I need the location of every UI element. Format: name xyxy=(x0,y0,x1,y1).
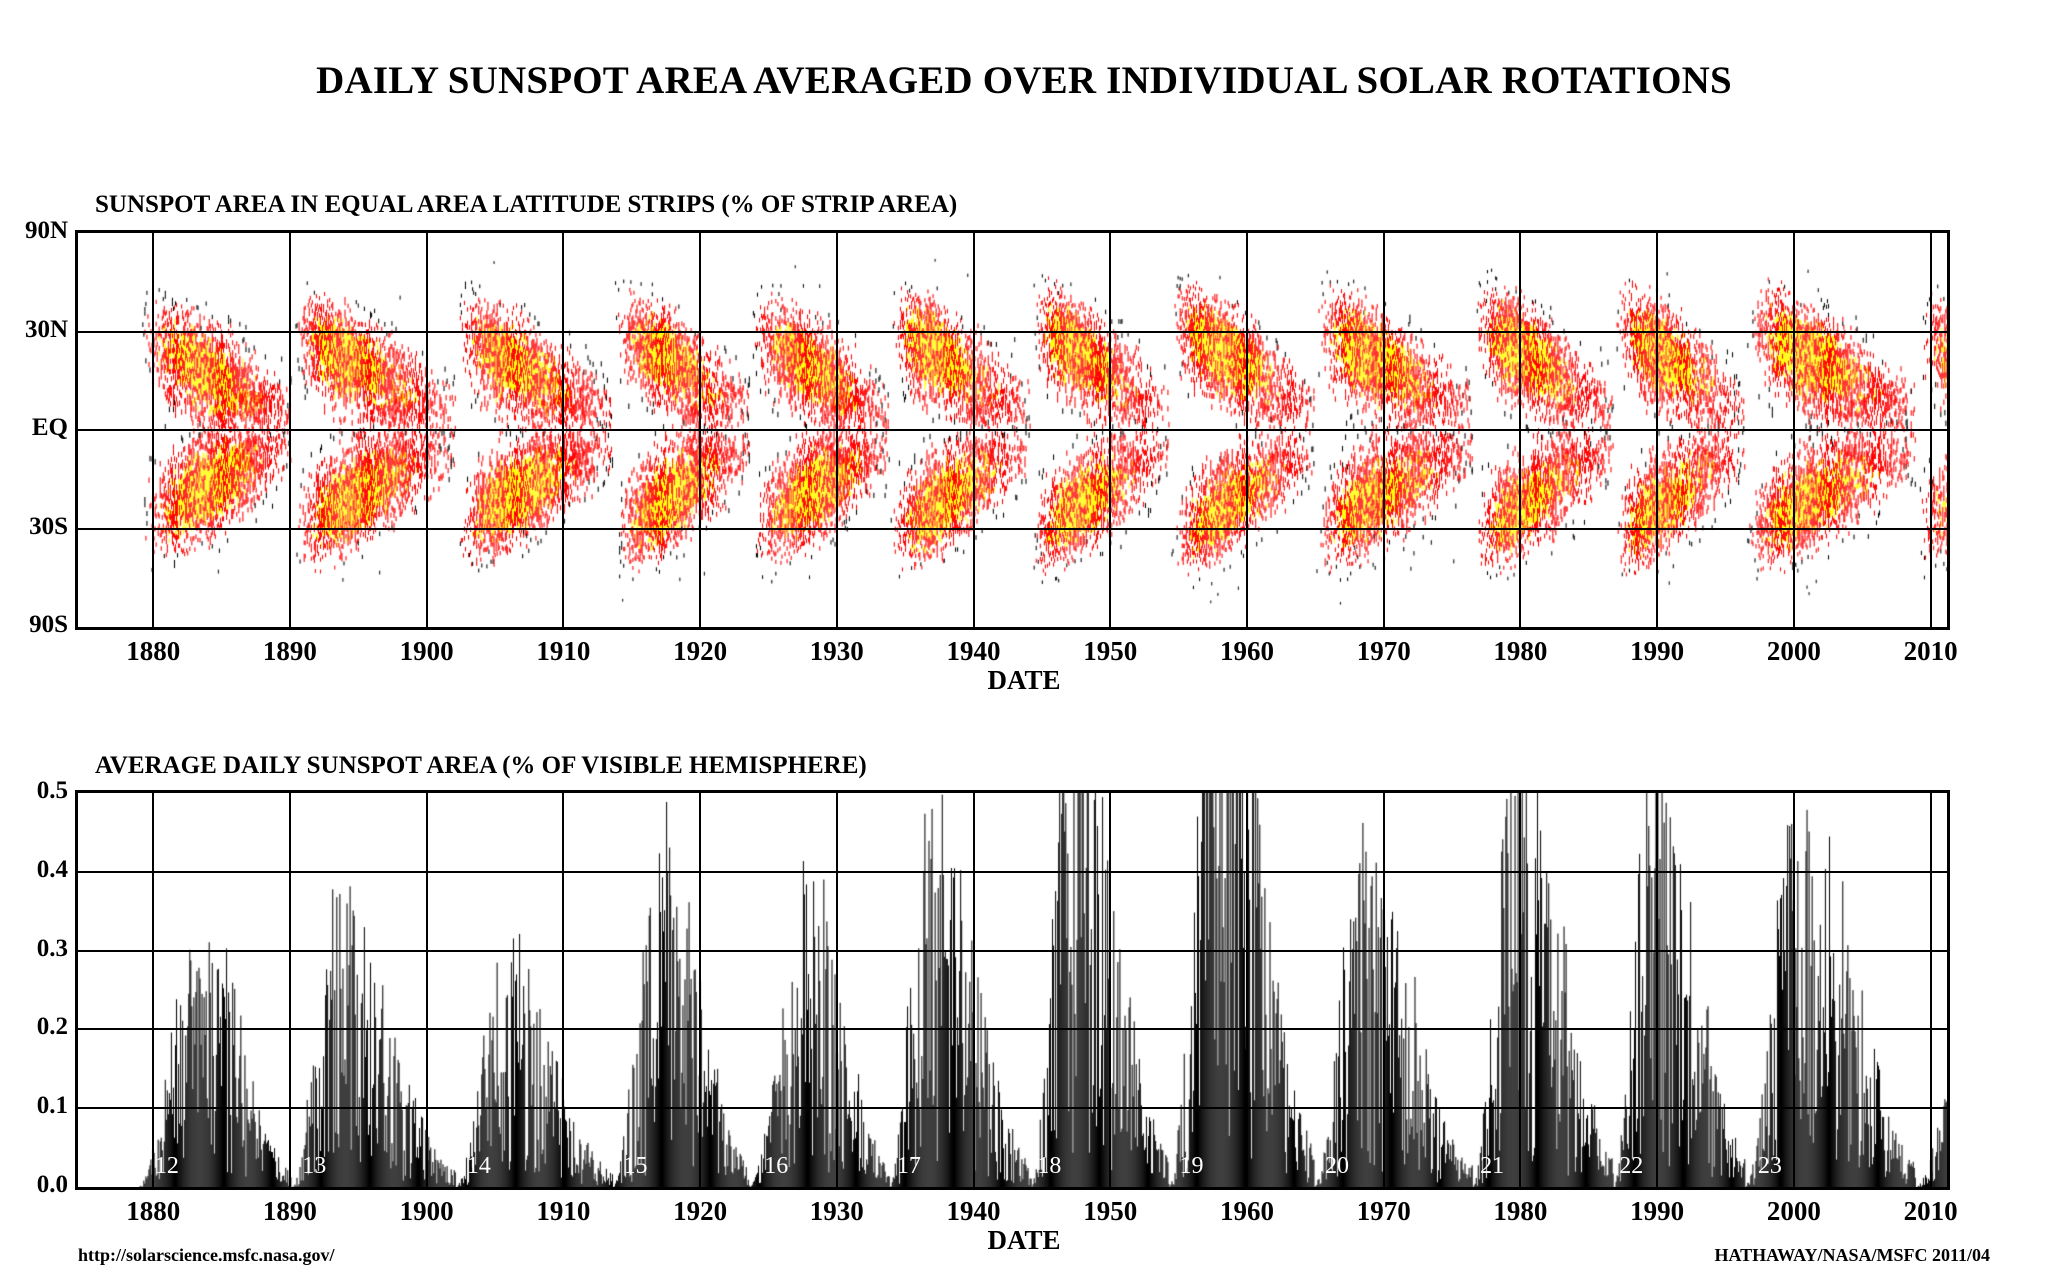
gridline-vertical xyxy=(1383,233,1385,627)
gridline-vertical xyxy=(836,793,838,1187)
gridline-vertical xyxy=(1930,793,1932,1187)
gridline-horizontal xyxy=(78,528,1947,530)
y-tick-label: 0.3 xyxy=(2,935,68,963)
gridline-vertical xyxy=(973,233,975,627)
gridline-vertical xyxy=(1519,233,1521,627)
gridline-vertical xyxy=(152,233,154,627)
gridline-vertical xyxy=(1246,793,1248,1187)
gridline-vertical xyxy=(426,233,428,627)
gridline-vertical xyxy=(1109,793,1111,1187)
gridline-vertical xyxy=(699,233,701,627)
y-tick-label: 0.2 xyxy=(2,1013,68,1041)
area-plot-area: 121314151617181920212223 xyxy=(75,790,1950,1190)
x-tick-label: 2010 xyxy=(1851,636,2011,667)
gridline-vertical xyxy=(1930,233,1932,627)
butterfly-panel-heading: SUNSPOT AREA IN EQUAL AREA LATITUDE STRI… xyxy=(95,191,957,219)
gridline-vertical xyxy=(289,793,291,1187)
area-panel-heading: AVERAGE DAILY SUNSPOT AREA (% OF VISIBLE… xyxy=(95,752,867,780)
butterfly-plot-area xyxy=(75,230,1950,630)
gridline-vertical xyxy=(1246,233,1248,627)
gridline-horizontal xyxy=(78,1107,1947,1109)
x-tick-label: 2010 xyxy=(1851,1196,2011,1227)
gridline-horizontal xyxy=(78,871,1947,873)
author-credit: HATHAWAY/NASA/MSFC 2011/04 xyxy=(1714,1245,1990,1266)
gridline-horizontal xyxy=(78,331,1947,333)
page-title: DAILY SUNSPOT AREA AVERAGED OVER INDIVID… xyxy=(0,58,2048,103)
y-tick-label: 90N xyxy=(2,217,68,245)
y-tick-label: 30S xyxy=(2,513,68,541)
gridline-horizontal xyxy=(78,950,1947,952)
gridline-vertical xyxy=(426,793,428,1187)
y-tick-label: 0.1 xyxy=(2,1092,68,1120)
y-tick-label: 90S xyxy=(2,611,68,639)
y-tick-label: EQ xyxy=(2,414,68,442)
gridline-vertical xyxy=(1383,793,1385,1187)
gridline-vertical xyxy=(836,233,838,627)
gridline-vertical xyxy=(562,233,564,627)
gridline-vertical xyxy=(1656,233,1658,627)
y-tick-label: 30N xyxy=(2,316,68,344)
gridline-vertical xyxy=(562,793,564,1187)
gridline-vertical xyxy=(152,793,154,1187)
source-url[interactable]: http://solarscience.msfc.nasa.gov/ xyxy=(78,1245,334,1266)
butterfly-x-axis-title: DATE xyxy=(0,665,2048,696)
gridline-vertical xyxy=(1519,793,1521,1187)
gridline-horizontal xyxy=(78,429,1947,431)
gridline-vertical xyxy=(1109,233,1111,627)
gridline-horizontal xyxy=(78,1028,1947,1030)
gridline-vertical xyxy=(1656,793,1658,1187)
gridline-vertical xyxy=(1793,233,1795,627)
y-tick-label: 0.4 xyxy=(2,856,68,884)
gridline-vertical xyxy=(973,793,975,1187)
y-tick-label: 0.5 xyxy=(2,777,68,805)
gridline-vertical xyxy=(1793,793,1795,1187)
gridline-vertical xyxy=(699,793,701,1187)
y-tick-label: 0.0 xyxy=(2,1171,68,1199)
area-series-canvas xyxy=(78,793,1947,1187)
gridline-vertical xyxy=(289,233,291,627)
